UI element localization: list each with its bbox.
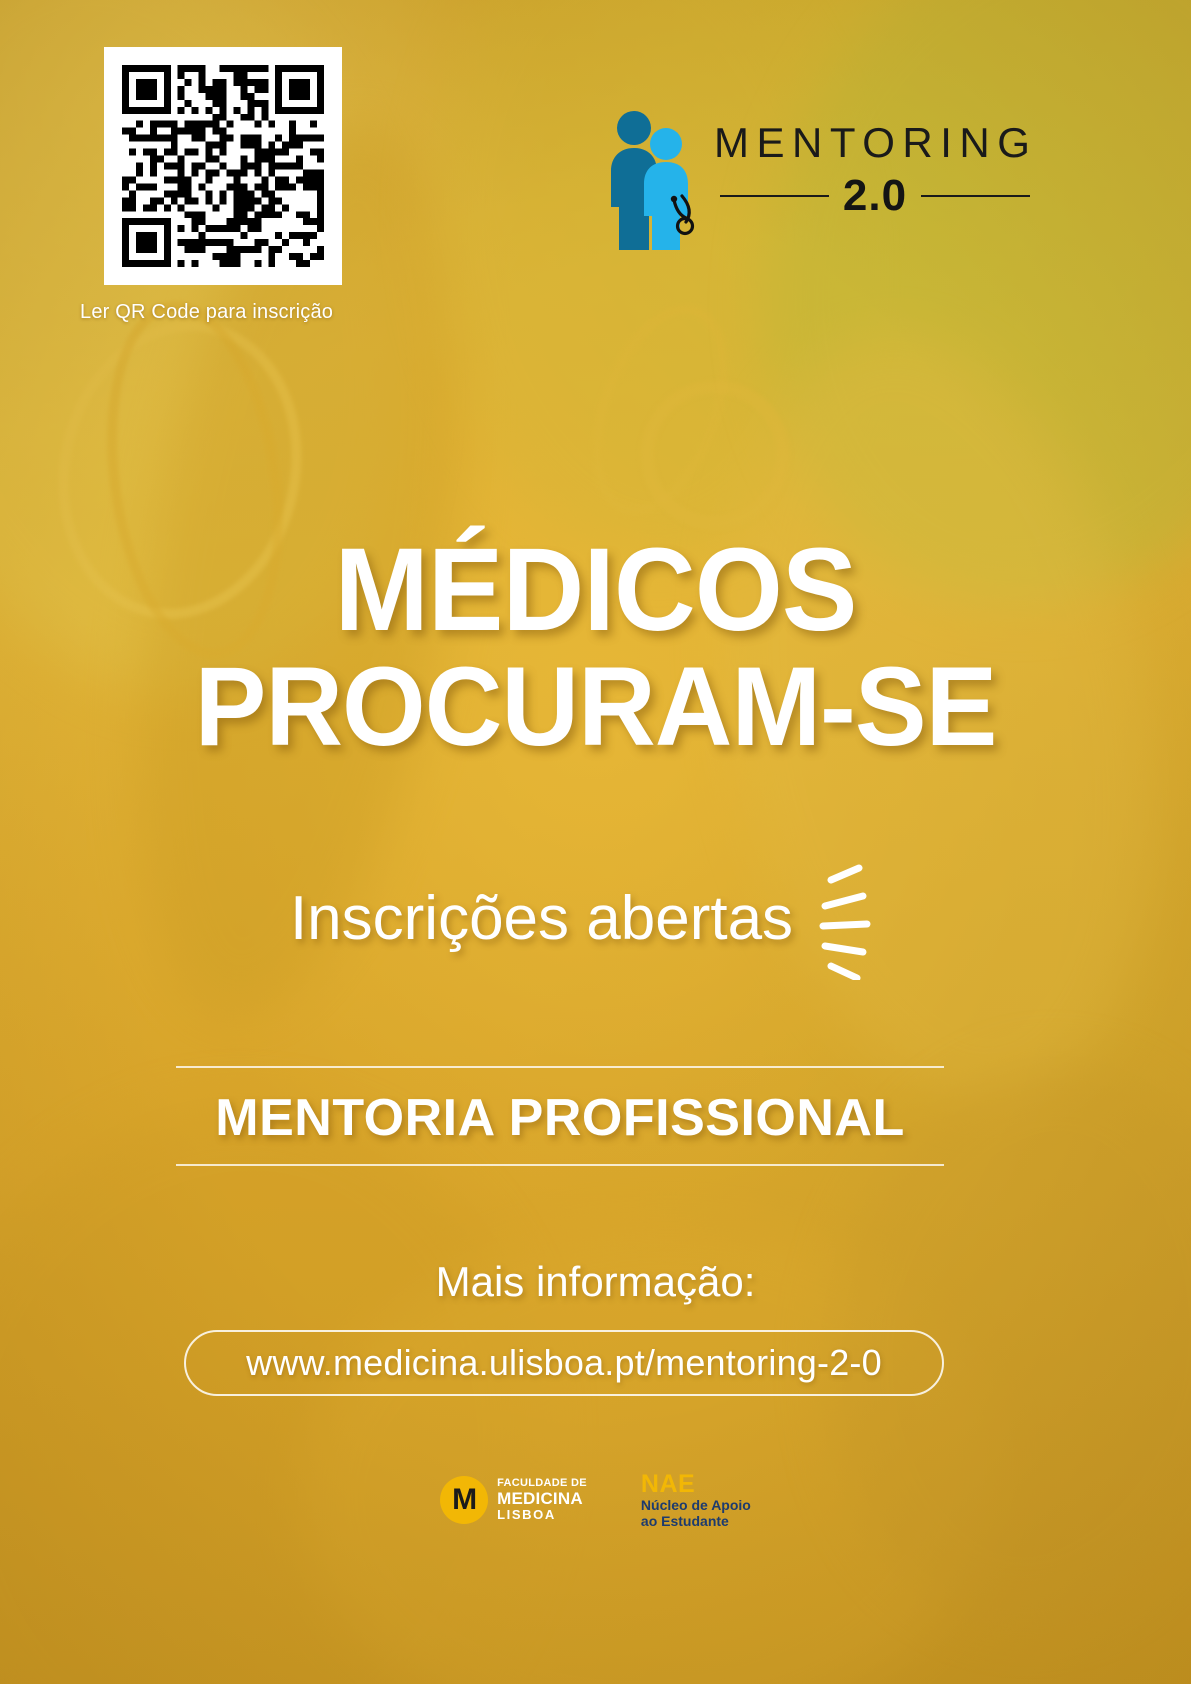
fml-line-2: MEDICINA — [497, 1490, 587, 1508]
qr-code-image — [122, 65, 324, 267]
band-title: MENTORIA PROFISSIONAL — [176, 1068, 944, 1164]
nae-logo: NAE Núcleo de Apoio ao Estudante — [641, 1470, 751, 1529]
two-people-stethoscope-icon — [596, 104, 716, 250]
info-label: Mais informação: — [0, 1258, 1191, 1306]
mentoring-logo: MENTORING 2.0 — [596, 104, 1028, 250]
subtitle-text: Inscrições abertas — [290, 885, 793, 953]
qr-caption: Ler QR Code para inscrição — [80, 301, 410, 324]
footer-logos: M FACULDADE DE MEDICINA LISBOA NAE Núcle… — [0, 1440, 1191, 1560]
nae-acronym: NAE — [641, 1470, 751, 1498]
logo-rule-right — [921, 195, 1030, 197]
nae-line-2: ao Estudante — [641, 1514, 751, 1530]
sparkle-icon — [815, 864, 901, 980]
fml-monogram-icon: M — [440, 1476, 488, 1524]
logo-version: 2.0 — [843, 174, 907, 218]
logo-rule-left — [720, 195, 829, 197]
faculdade-medicina-logo: M FACULDADE DE MEDICINA LISBOA — [440, 1476, 587, 1524]
poster-canvas: Ler QR Code para inscrição MENTORING — [0, 0, 1191, 1684]
nae-line-1: Núcleo de Apoio — [641, 1498, 751, 1514]
fml-line-3: LISBOA — [497, 1508, 587, 1522]
logo-wordmark: MENTORING — [714, 122, 1030, 164]
qr-code[interactable] — [104, 47, 342, 285]
headline-line-2: PROCURAM-SE — [24, 655, 1167, 758]
website-url-text: www.medicina.ulisboa.pt/mentoring-2-0 — [246, 1342, 882, 1384]
mentoria-band: MENTORIA PROFISSIONAL — [176, 1066, 944, 1166]
headline: MÉDICOS PROCURAM-SE — [0, 536, 1191, 758]
headline-line-1: MÉDICOS — [24, 536, 1167, 645]
band-rule-bottom — [176, 1164, 944, 1166]
website-url-button[interactable]: www.medicina.ulisboa.pt/mentoring-2-0 — [184, 1330, 944, 1396]
fml-monogram-letter: M — [452, 1485, 476, 1515]
subtitle-row: Inscrições abertas — [0, 858, 1191, 980]
